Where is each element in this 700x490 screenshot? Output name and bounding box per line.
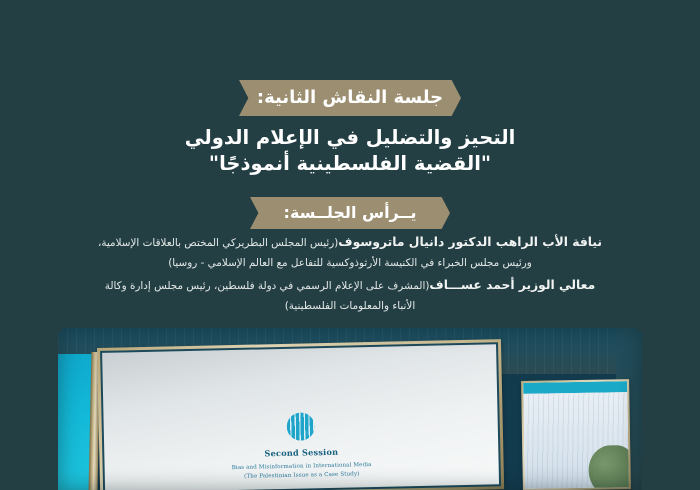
chair-badge: يــرأس الجلــسة: — [250, 197, 450, 229]
chair-badge-container: يــرأس الجلــسة: — [0, 197, 700, 229]
main-projection-screen-surface: Second Session Bias and Misinformation i… — [102, 344, 499, 490]
session-badge: جلسة النقاش الثانية: — [239, 80, 461, 116]
session-announcement-poster: جلسة النقاش الثانية: التحيز والتضليل في … — [0, 0, 700, 490]
session-badge-container: جلسة النقاش الثانية: — [0, 80, 700, 116]
participant-detail-line-2: ورئيس مجلس الخبراء في الكنيسة الأرثوذوكس… — [42, 254, 658, 274]
participant-detail-line-1: (المشرف على الإعلام الرسمي في دولة فلسطي… — [105, 280, 430, 292]
secondary-screen-inner — [523, 381, 629, 489]
participant-detail-line-1: (رئيس المجلس البطريركي المختص بالعلاقات … — [98, 237, 338, 249]
participant-detail-line-2: الأنباء والمعلومات الفلسطينية) — [42, 297, 658, 317]
session-title-line-2: "القضية الفلسطينية أنموذجًا" — [0, 151, 700, 177]
participants-list: نيافة الأب الراهب الدكتور دانيال ماتروسو… — [42, 233, 658, 316]
conference-hall-photo: Second Session Bias and Misinformation i… — [58, 328, 642, 490]
session-title-block: التحيز والتضليل في الإعلام الدولي "القضي… — [0, 125, 700, 177]
secondary-screen-frame — [521, 379, 631, 490]
main-projection-screen-frame: Second Session Bias and Misinformation i… — [97, 339, 504, 490]
session-title-line-1: التحيز والتضليل في الإعلام الدولي — [0, 125, 700, 151]
main-projection-screen-inner: Second Session Bias and Misinformation i… — [100, 342, 501, 490]
conference-globe-logo-icon — [286, 412, 315, 441]
secondary-screen-image — [523, 392, 629, 489]
participant-name: نيافة الأب الراهب الدكتور دانيال ماتروسو… — [338, 235, 602, 249]
hall-cyan-side-panel — [58, 354, 92, 490]
participant-entry: نيافة الأب الراهب الدكتور دانيال ماتروسو… — [42, 233, 658, 273]
participant-name: معالي الوزير أحمد عســـاف — [429, 278, 595, 292]
participant-entry: معالي الوزير أحمد عســـاف(المشرف على الإ… — [42, 276, 658, 316]
slide-content: Second Session Bias and Misinformation i… — [104, 408, 499, 485]
